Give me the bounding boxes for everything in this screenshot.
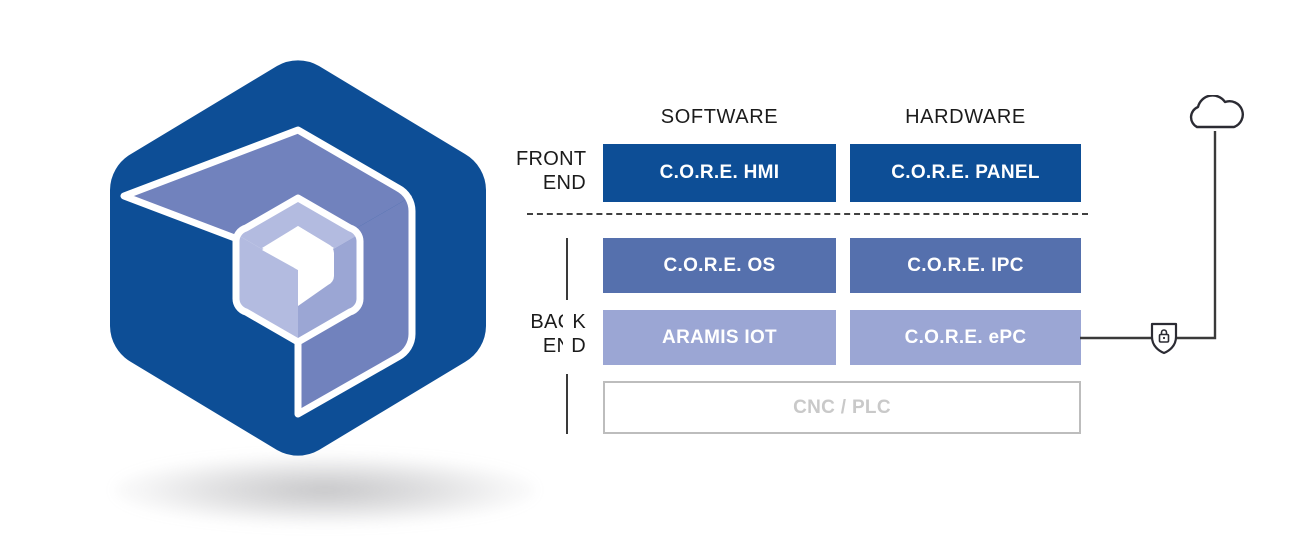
back-end-bracket-gap <box>563 300 572 374</box>
box-core-os[interactable]: C.O.R.E. OS <box>603 238 836 293</box>
box-cnc-plc[interactable]: CNC / PLC <box>603 381 1081 434</box>
tier-label-front-end: FRONT END <box>516 147 586 195</box>
tier-label-back-end: BACK END <box>516 310 586 358</box>
column-header-software: SOFTWARE <box>603 105 836 129</box>
tier-label-front-end-line1: FRONT <box>516 147 586 171</box>
box-core-epc[interactable]: C.O.R.E. ePC <box>850 310 1081 365</box>
column-header-hardware: HARDWARE <box>850 105 1081 129</box>
connector-line <box>1080 131 1215 338</box>
tier-label-back-end-line2: END <box>516 334 586 358</box>
box-core-panel[interactable]: C.O.R.E. PANEL <box>850 144 1081 202</box>
cloud-icon <box>1191 95 1243 127</box>
cloud-connector <box>1080 95 1260 355</box>
box-aramis-iot[interactable]: ARAMIS IOT <box>603 310 836 365</box>
box-core-ipc[interactable]: C.O.R.E. IPC <box>850 238 1081 293</box>
shield-lock-icon <box>1152 324 1176 353</box>
tier-label-back-end-line1: BACK <box>516 310 586 334</box>
architecture-diagram: SOFTWARE HARDWARE FRONT END BACK END C.O… <box>0 0 1290 560</box>
box-core-hmi[interactable]: C.O.R.E. HMI <box>603 144 836 202</box>
front-back-divider <box>527 213 1088 215</box>
tier-label-front-end-line2: END <box>516 171 586 195</box>
